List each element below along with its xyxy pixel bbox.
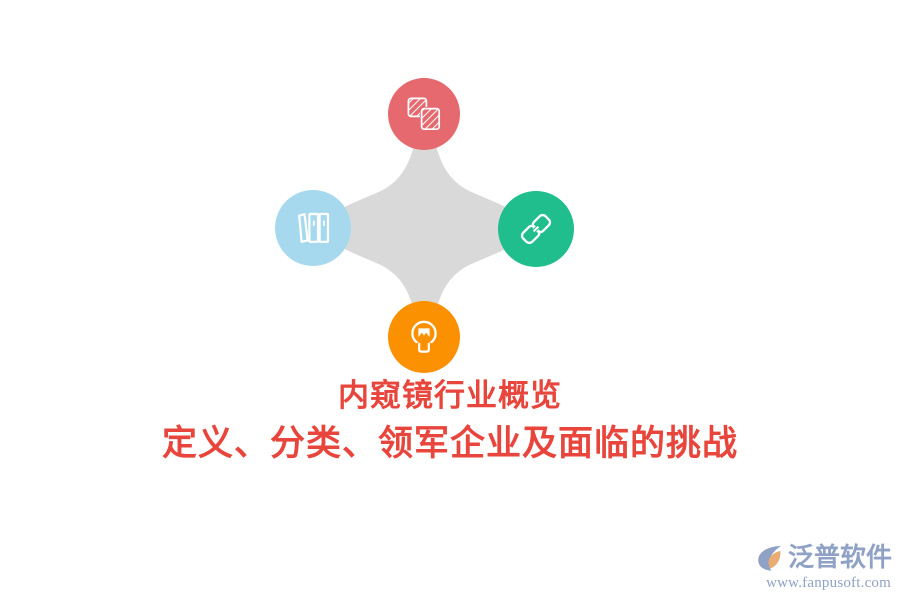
fanpu-leaf-logo-icon [755, 543, 785, 573]
books-icon [295, 211, 331, 245]
watermark-brand-name: 泛普软件 [788, 545, 892, 571]
hatched-layers-icon [407, 97, 441, 131]
page-title-sub: 定义、分类、领军企业及面临的挑战 [0, 423, 900, 464]
title-block: 内窥镜行业概览 定义、分类、领军企业及面临的挑战 [0, 378, 900, 464]
chain-link-icon [517, 210, 555, 248]
node-right-chain-link[interactable] [498, 191, 574, 267]
node-top-hatched-layers[interactable] [388, 78, 460, 150]
node-left-books[interactable] [275, 190, 351, 266]
watermark-url: www.fanpusoft.com [766, 574, 891, 592]
four-point-star-infographic [0, 0, 900, 600]
poster-canvas: 内窥镜行业概览 定义、分类、领军企业及面临的挑战 泛普软件 www.fanpus… [0, 0, 900, 600]
lightbulb-icon [408, 319, 440, 355]
page-title-main: 内窥镜行业概览 [0, 378, 900, 415]
node-bottom-lightbulb[interactable] [388, 301, 460, 373]
watermark: 泛普软件 www.fanpusoft.com [752, 534, 892, 592]
watermark-logo-row: 泛普软件 [755, 543, 892, 573]
